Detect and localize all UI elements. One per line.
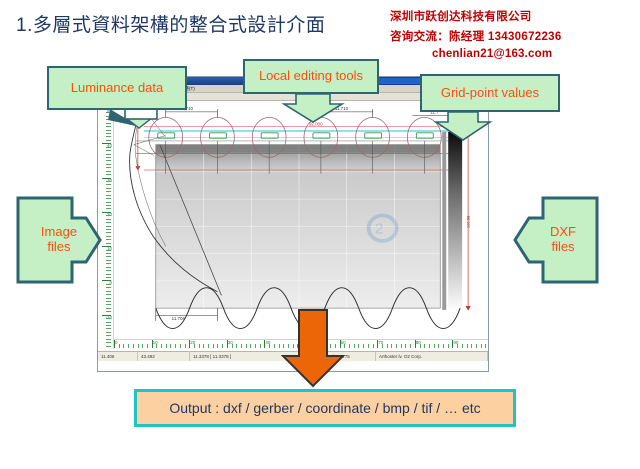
- ruler-tick: [246, 344, 247, 348]
- ruler-tick: [175, 344, 176, 348]
- ruler-tick: [106, 123, 111, 124]
- ruler-tick: [106, 112, 111, 113]
- ruler-tick: [106, 318, 111, 319]
- page-title: 1.多層式資料架構的整合式設計介面: [16, 10, 325, 37]
- ruler-tick: [354, 344, 355, 348]
- ruler-tick: [106, 287, 111, 288]
- ruler-tick: [208, 344, 209, 348]
- ruler-tick: [396, 344, 397, 348]
- ruler-tick: [106, 133, 111, 134]
- ruler-tick: [236, 344, 237, 348]
- ruler-tick: [106, 346, 111, 347]
- ruler-tick: [161, 344, 162, 348]
- ruler-tick: [232, 344, 233, 348]
- ruler-tick: [471, 344, 472, 348]
- ruler-tick: [106, 116, 111, 117]
- ruler-label: 0: [115, 340, 118, 345]
- ruler-tick: [106, 140, 111, 141]
- slide-root: 1.多層式資料架構的整合式設計介面 深圳市跃创达科技有限公司 咨询交流：陈经理 …: [0, 0, 640, 469]
- ruler-tick: [106, 202, 111, 203]
- ruler-tick: [485, 344, 486, 348]
- ruler-tick: [443, 344, 444, 348]
- ruler-tick: [457, 344, 458, 348]
- ruler-tick: [106, 174, 111, 175]
- ruler-tick: [106, 239, 111, 240]
- ruler-tick: [106, 126, 111, 127]
- ruler-tick: [106, 298, 111, 299]
- callout-image-files-label: Image files: [41, 225, 77, 255]
- ruler-tick: [387, 344, 388, 348]
- ruler-tick: [106, 136, 111, 137]
- ruler-tick: [119, 344, 120, 348]
- ruler-tick: [106, 284, 111, 285]
- ruler-tick: [106, 184, 111, 185]
- company-name: 深圳市跃创达科技有限公司: [390, 8, 562, 24]
- ruler-tick: [133, 344, 134, 348]
- ruler-tick: [106, 277, 111, 278]
- ruler-tick: [170, 344, 171, 348]
- ruler-tick: [217, 344, 218, 348]
- ruler-tick: [106, 332, 111, 333]
- ruler-tick: [106, 335, 111, 336]
- ruler-tick: [106, 328, 111, 329]
- ruler-tick: [106, 188, 111, 189]
- ruler-tick: [481, 344, 482, 348]
- ruler-tick: [180, 344, 181, 348]
- ruler-tick: [106, 243, 111, 244]
- ruler-tick: [106, 311, 111, 312]
- ruler-tick: [106, 191, 111, 192]
- dxf-files-line2: files: [551, 239, 574, 254]
- ruler-tick: [106, 232, 111, 233]
- ruler-tick: [106, 198, 111, 199]
- svg-text:2: 2: [375, 221, 384, 237]
- ruler-tick: [106, 236, 111, 237]
- ruler-tick: [462, 344, 463, 348]
- ruler-tick: [424, 344, 425, 348]
- callout-luminance-data[interactable]: Luminance data: [47, 66, 187, 110]
- ruler-tick: [128, 344, 129, 348]
- svg-text:5.009: 5.009: [144, 114, 156, 119]
- ruler-tick: [434, 344, 435, 348]
- svg-text:11.710: 11.710: [335, 106, 349, 111]
- ruler-tick: [106, 154, 111, 155]
- ruler-tick: [106, 301, 111, 302]
- ruler-tick: [106, 308, 111, 309]
- ruler-tick: [363, 344, 364, 348]
- ruler-tick: [269, 344, 270, 348]
- callout-local-editing-tools[interactable]: Local editing tools: [243, 59, 379, 94]
- image-files-line1: Image: [41, 224, 77, 239]
- ruler-tick: [429, 344, 430, 348]
- ruler-tick: [142, 344, 143, 348]
- ruler-tick: [138, 344, 139, 348]
- ruler-tick: [250, 344, 251, 348]
- ruler-tick: [213, 344, 214, 348]
- ruler-tick: [106, 181, 111, 182]
- dxf-files-line1: DXF: [550, 224, 576, 239]
- ruler-tick: [106, 256, 111, 257]
- ruler-tick: [368, 344, 369, 348]
- ruler-tick: [106, 253, 111, 254]
- svg-text:11.706: 11.706: [172, 316, 186, 321]
- company-email: chenlian21@163.com: [432, 48, 562, 60]
- ruler-tick: [373, 344, 374, 348]
- ruler-tick: [438, 344, 439, 348]
- ruler-tick: [106, 222, 111, 223]
- ruler-tick: [106, 260, 111, 261]
- ruler-tick: [106, 322, 111, 323]
- ruler-tick: [279, 344, 280, 348]
- ruler-tick: [448, 344, 449, 348]
- ruler-tick: [106, 274, 111, 275]
- ruler-tick: [106, 160, 111, 161]
- ruler-tick: [222, 344, 223, 348]
- ruler-tick: [106, 164, 111, 165]
- ruler-tick: [106, 219, 111, 220]
- ruler-tick: [405, 344, 406, 348]
- blue-connector-bar: [377, 77, 425, 85]
- ruler-tick: [203, 344, 204, 348]
- callout-dxf-files[interactable]: DXF files: [513, 196, 599, 284]
- output-banner: Output : dxf / gerber / coordinate / bmp…: [134, 389, 516, 427]
- svg-text:106.99: 106.99: [466, 215, 471, 228]
- image-files-line2: files: [47, 239, 70, 254]
- ruler-tick: [410, 344, 411, 348]
- ruler-tick: [106, 147, 111, 148]
- callout-dxf-files-label: DXF files: [550, 225, 576, 255]
- ruler-tick: [106, 325, 111, 326]
- ruler-tick: [260, 344, 261, 348]
- ruler-tick: [382, 344, 383, 348]
- ruler-tick: [274, 344, 275, 348]
- ruler-tick: [106, 208, 111, 209]
- ruler-tick: [106, 270, 111, 271]
- callout-grid-point-values[interactable]: Grid-point values: [420, 74, 560, 112]
- status-y: 43.492: [138, 352, 190, 361]
- ruler-tick: [166, 344, 167, 348]
- ruler-tick: [185, 344, 186, 348]
- status-x: 11.406: [98, 352, 138, 361]
- ruler-tick: [467, 344, 468, 348]
- ruler-tick: [106, 226, 111, 227]
- status-owner: Arthoster lv. O2 Corp.: [376, 352, 488, 361]
- ruler-tick: [106, 119, 111, 120]
- ruler-tick: [241, 344, 242, 348]
- ruler-tick: [106, 250, 111, 251]
- ruler-tick: [156, 344, 157, 348]
- ruler-tick: [106, 342, 111, 343]
- ruler-tick: [123, 344, 124, 348]
- ruler-tick: [401, 344, 402, 348]
- ruler-tick: [106, 171, 111, 172]
- ruler-tick: [106, 150, 111, 151]
- ruler-tick: [106, 339, 111, 340]
- company-info-block: 深圳市跃创达科技有限公司 咨询交流：陈经理 13430672236 chenli…: [390, 8, 562, 60]
- company-contact: 咨询交流：陈经理 13430672236: [390, 28, 562, 44]
- ruler-tick: [194, 344, 195, 348]
- svg-text:92.000: 92.000: [309, 122, 323, 127]
- ruler-tick: [147, 344, 148, 348]
- ruler-tick: [106, 205, 111, 206]
- output-down-arrow-icon: [281, 308, 345, 388]
- ruler-tick: [476, 344, 477, 348]
- ruler-tick: [391, 344, 392, 348]
- ruler-tick: [420, 344, 421, 348]
- ruler-tick: [106, 267, 111, 268]
- ruler-tick: [106, 291, 111, 292]
- ruler-tick: [106, 157, 111, 158]
- ruler-tick: [106, 229, 111, 230]
- ruler-tick: [106, 130, 111, 131]
- callout-image-files[interactable]: Image files: [16, 196, 102, 284]
- ruler-tick: [358, 344, 359, 348]
- ruler-tick: [106, 215, 111, 216]
- ruler-tick: [106, 167, 111, 168]
- cad-drawing[interactable]: 11.710 11.710 11.7 5.009 92.000: [114, 101, 488, 339]
- ruler-tick: [106, 304, 111, 305]
- cad-drawing-svg: 11.710 11.710 11.7 5.009 92.000: [114, 101, 488, 339]
- ruler-tick: [255, 344, 256, 348]
- ruler-tick: [199, 344, 200, 348]
- ruler-tick: [106, 294, 111, 295]
- ruler-tick: [349, 344, 350, 348]
- ruler-tick: [106, 195, 111, 196]
- ruler-tick: [106, 263, 111, 264]
